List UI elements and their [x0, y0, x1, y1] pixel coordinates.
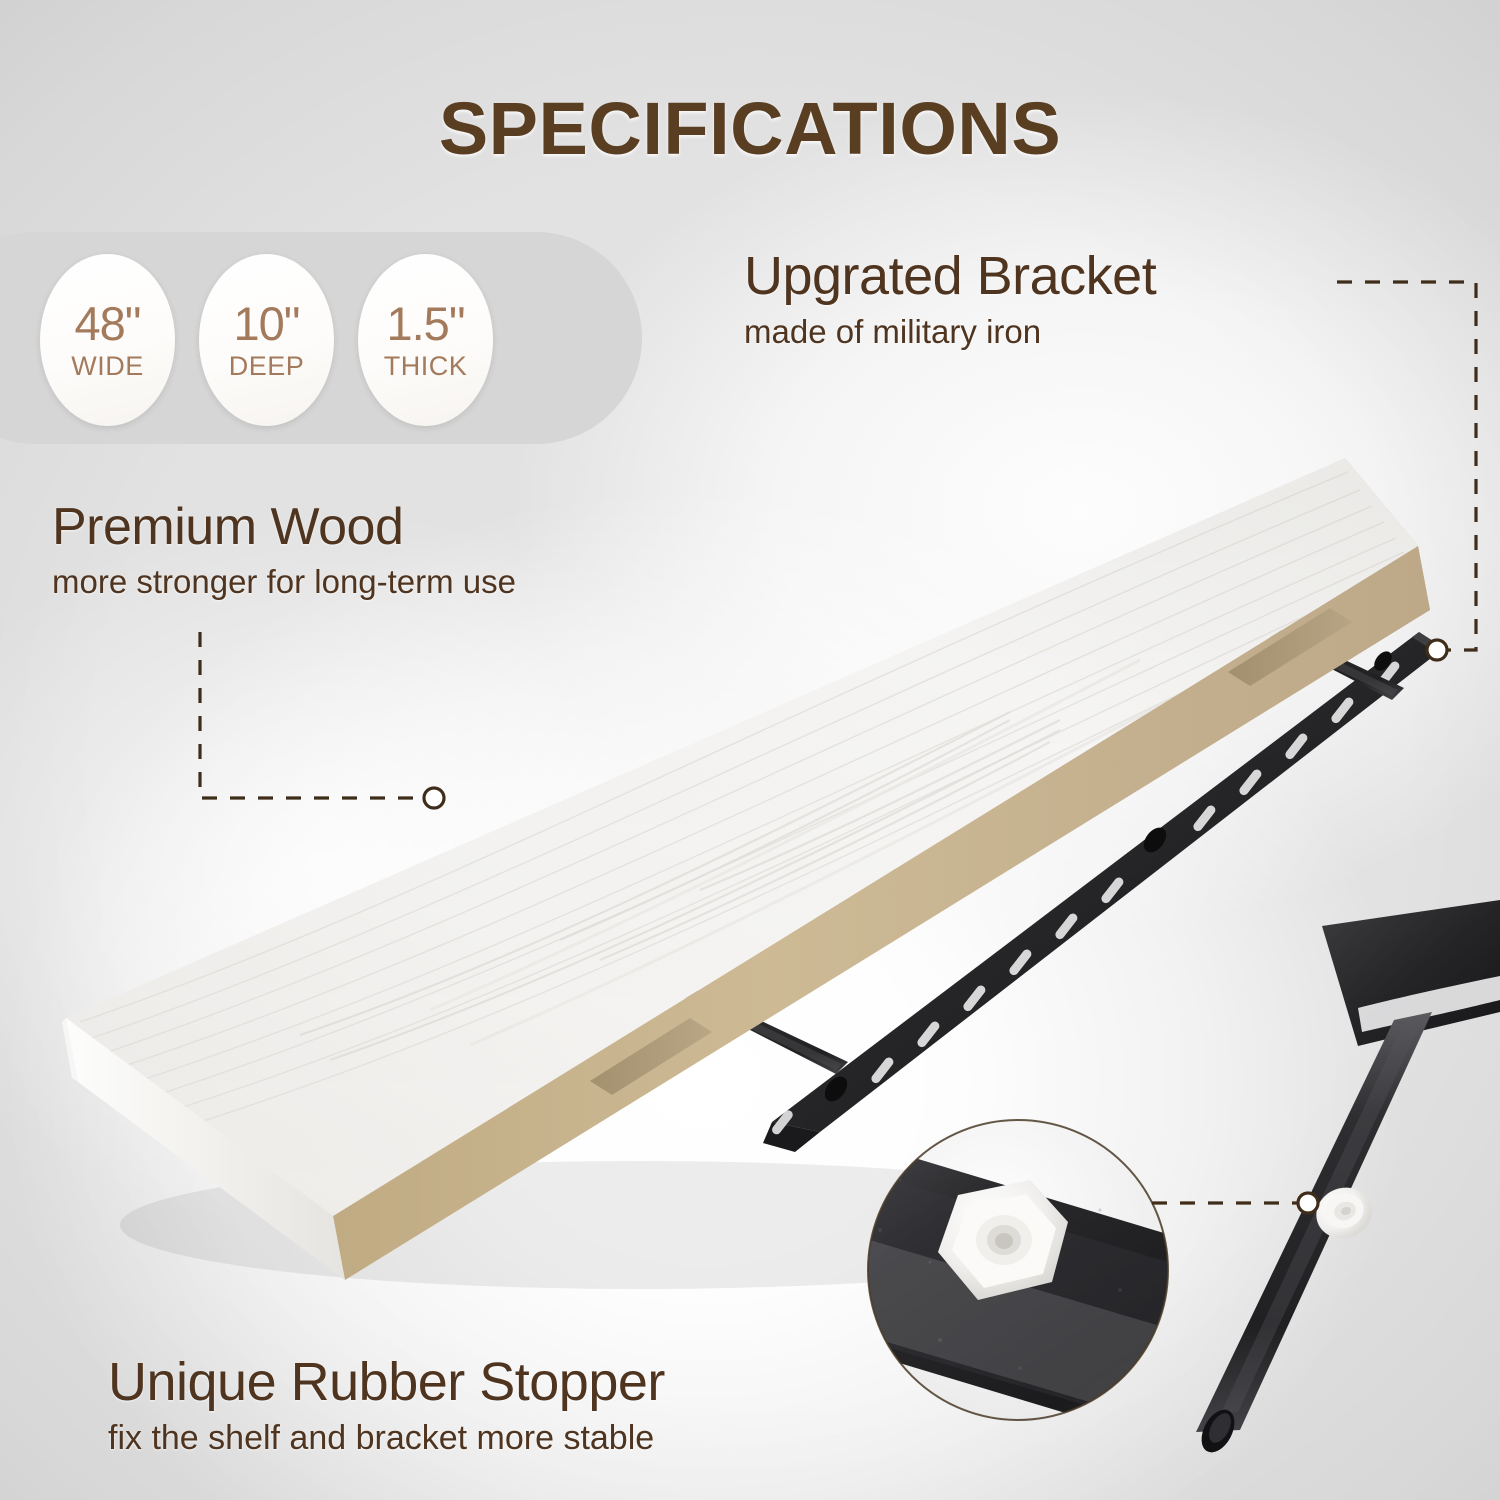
spec-badge-thick-label: THICK — [384, 353, 468, 380]
spec-badge-deep-label: DEEP — [229, 353, 305, 380]
callout-premium-wood: Premium Wood more stronger for long-term… — [52, 500, 516, 601]
callout-wood-subtext: more stronger for long-term use — [52, 563, 516, 601]
page-title: SPECIFICATIONS — [0, 86, 1500, 171]
callout-bracket-heading: Upgrated Bracket — [744, 248, 1156, 305]
spec-badge-wide-value: 48" — [75, 300, 141, 347]
bracket-arm-detail — [1195, 900, 1500, 1458]
callout-wood-heading: Premium Wood — [52, 500, 516, 555]
spec-badge-group: 48" WIDE 10" DEEP 1.5" THICK — [40, 252, 493, 428]
spec-badge-thick: 1.5" THICK — [358, 254, 493, 426]
callout-bracket-subtext: made of military iron — [744, 313, 1156, 351]
callout-stopper-subtext: fix the shelf and bracket more stable — [108, 1419, 665, 1458]
callout-rubber-stopper: Unique Rubber Stopper fix the shelf and … — [108, 1354, 665, 1458]
spec-badge-thick-value: 1.5" — [386, 300, 464, 347]
infographic-canvas: SPECIFICATIONS 48" WIDE 10" DEEP 1.5" TH… — [0, 0, 1500, 1500]
callout-upgraded-bracket: Upgrated Bracket made of military iron — [744, 248, 1156, 351]
spec-badge-wide: 48" WIDE — [40, 254, 175, 426]
callout-stopper-heading: Unique Rubber Stopper — [108, 1354, 665, 1411]
spec-badge-deep-value: 10" — [234, 300, 300, 347]
spec-badge-deep: 10" DEEP — [199, 254, 334, 426]
product-illustration — [0, 0, 1500, 1500]
spec-badge-wide-label: WIDE — [71, 353, 144, 380]
